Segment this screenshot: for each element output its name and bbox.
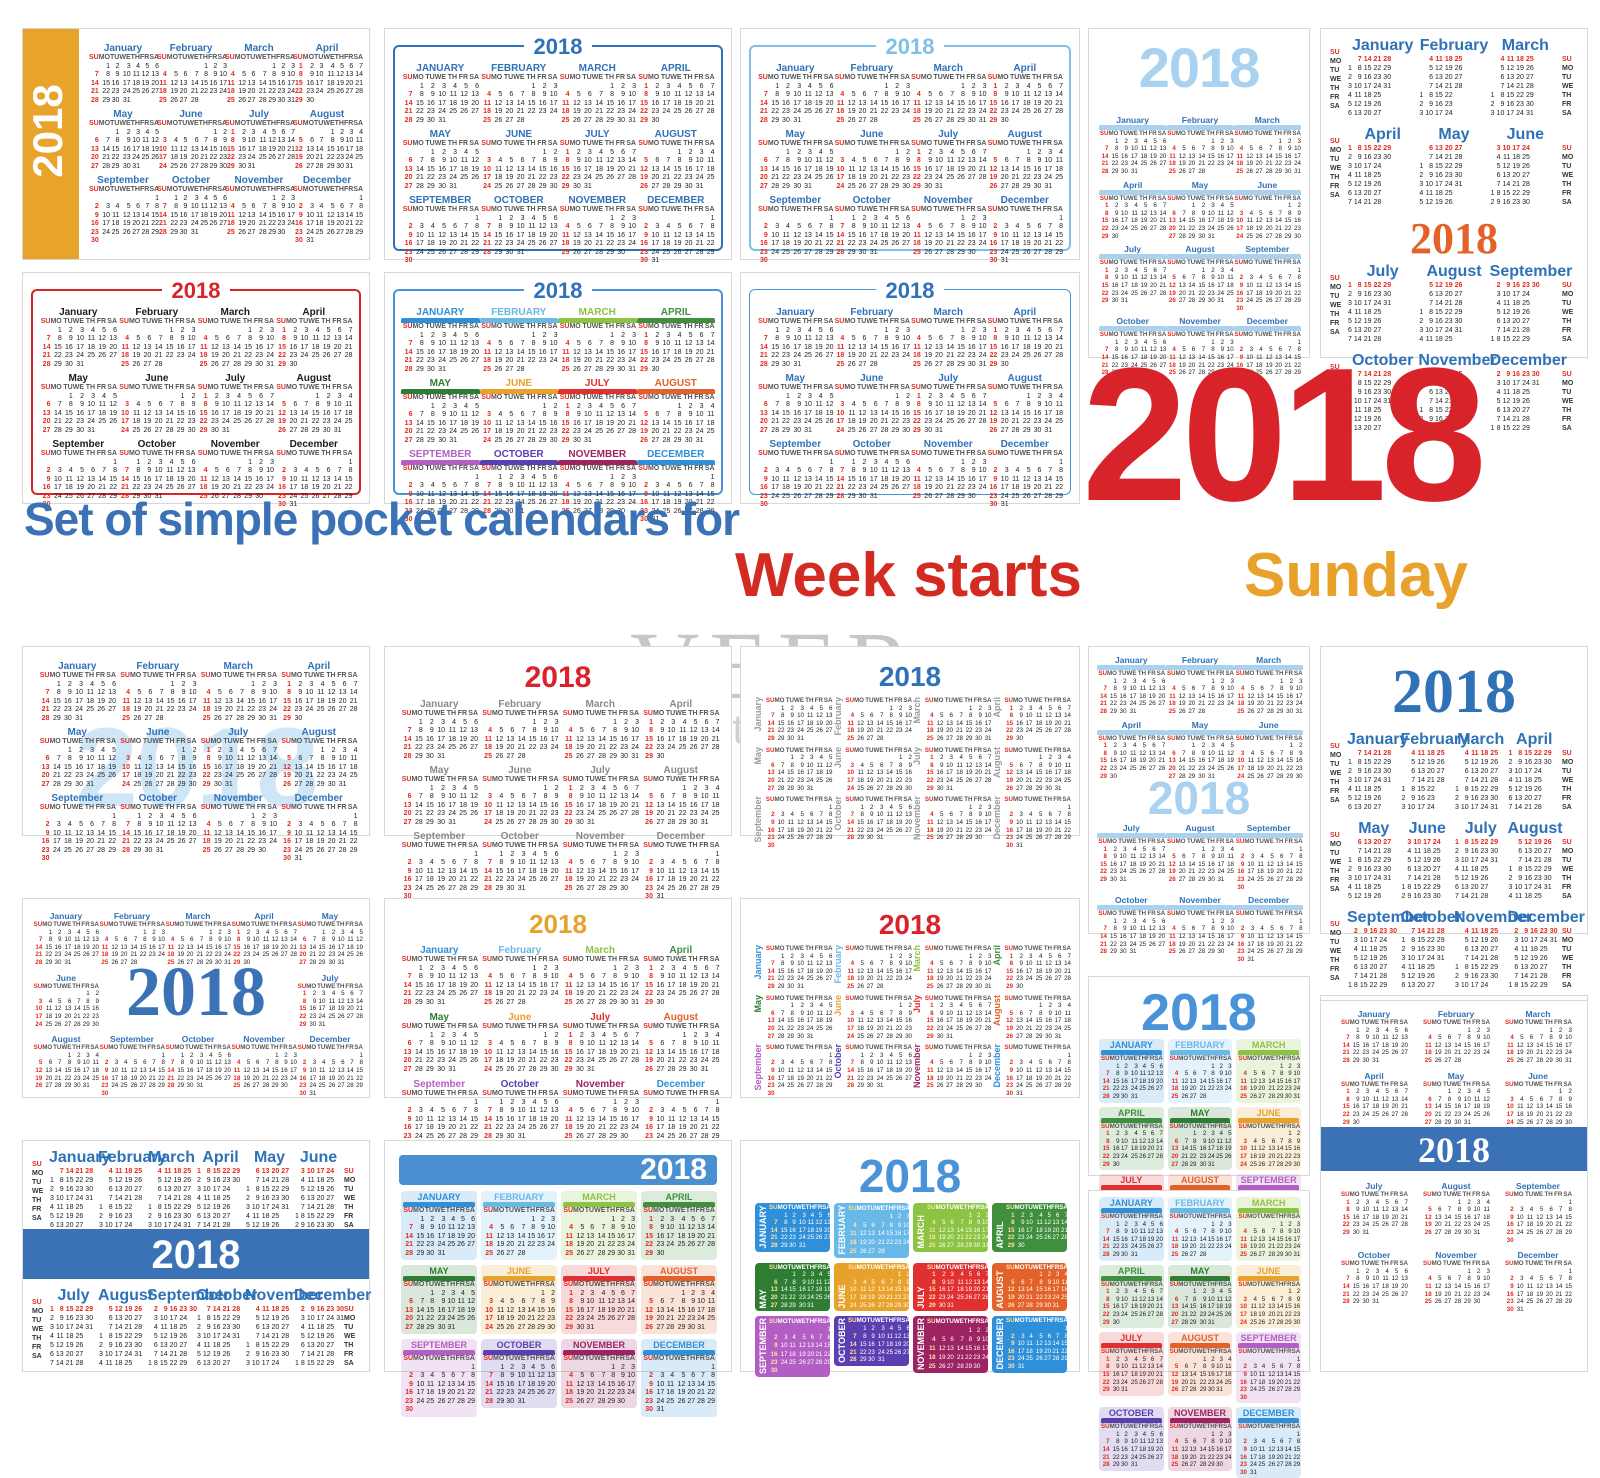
- month-name: May: [37, 727, 118, 738]
- month-cell: JuneSUMOTUWETHFRSA1234567891011121314151…: [480, 1012, 561, 1074]
- month-name: August: [98, 1287, 147, 1305]
- month-name: DECEMBER: [637, 195, 716, 206]
- month-cell: AprilSUMOTUWETHFRSA123456789101112131415…: [641, 945, 722, 1007]
- month-name: January: [399, 699, 480, 710]
- month-table: SUMOTUWETHFRSA12345678910111213141516171…: [89, 120, 159, 171]
- month-cell: December29162330310172431411182551219266…: [294, 1287, 343, 1368]
- month-chip[interactable]: AUGUSTSUMOTUWETHFRSA12345678910111213141…: [1168, 1332, 1233, 1396]
- month-cell: JuneSUMOTUWETHFRSA1234567891011121314151…: [834, 129, 911, 191]
- month-table: SUMOTUWETHFRSA12345678910111213141516171…: [927, 1264, 989, 1310]
- month-name: January: [1333, 1009, 1415, 1019]
- month-name: April: [231, 911, 297, 921]
- month-name: May: [297, 911, 363, 921]
- month-table: SUMOTUWETHFRSA12345678910111213141516171…: [481, 1023, 559, 1074]
- month-cell: AugustSUMOTUWETHFRSA12345678910111213141…: [275, 373, 354, 435]
- month-chip[interactable]: NOVEMBERSUMOTUWETHFRSA123456789101112131…: [1168, 1407, 1233, 1471]
- month-chip[interactable]: JUNESUMOTUWETHFRSA1234567891011121314151…: [1236, 1265, 1301, 1329]
- month-chip[interactable]: JULYSUMOTUWETHFRSA1234567891011121314151…: [913, 1263, 988, 1312]
- month-table: SUMOTUWETHFRSA12345678910111213141516171…: [481, 1090, 559, 1141]
- month-cell: SEPTEMBERSUMOTUWETHFRSA12345678910111213…: [401, 195, 480, 266]
- month-name: December: [294, 1287, 343, 1305]
- month-cell: JulySUMOTUWETHFRSA1234567891011121314151…: [1097, 823, 1166, 891]
- calendar-card-rounded-chips[interactable]: 2018 JANUARYSUMOTUWETHFRSA12345678910111…: [1088, 976, 1310, 1176]
- month-table: SUMOTUWETHFRSA12345678910111213141516171…: [275, 384, 353, 435]
- month-chip[interactable]: FEBRUARYSUMOTUWETHFRSA123456789101112131…: [481, 1191, 557, 1260]
- month-cell: JuneSUMOTUWETHFRSA1234567891011121314151…: [1234, 180, 1301, 241]
- month-name: FEBRUARY: [480, 307, 559, 318]
- calendar-card-blue-thin-frame[interactable]: 2018 JanuarySUMOTUWETHFRSA12345678910111…: [740, 272, 1080, 504]
- month-chip[interactable]: MAYSUMOTUWETHFRSA12345678910111213141516…: [1168, 1265, 1233, 1329]
- month-name: June: [833, 747, 843, 768]
- month-table: SUMOTUWETHFRSA12345678910111213141516171…: [987, 450, 1064, 510]
- calendar-card-vertical-month-names[interactable]: 2018 JanuarySUMOTUWETHFRSA12345678910111…: [740, 898, 1080, 1098]
- month-cell: AUGUSTSUMOTUWETHFRSA12345678910111213141…: [641, 1265, 717, 1334]
- month-chip[interactable]: DECEMBERSUMOTUWETHFRSA123456789101112131…: [641, 1339, 717, 1417]
- month-grid-bottom: JulySUMOTUWETHFRSA1234567891011121314151…: [1097, 823, 1303, 933]
- month-cell: OctoberSUMOTUWETHFRSA1234567891011121314…: [1097, 895, 1166, 963]
- calendar-card-multicolor-uppercase[interactable]: 2018 JANUARYSUMOTUWETHFRSA12345678910111…: [384, 272, 732, 504]
- month-table: SUMOTUWETHFRSA12345678910111213141516171…: [1238, 1055, 1300, 1101]
- calendar-card-pale-blue-bigyear[interactable]: 2018 JanuarySUMOTUWETHFRSA12345678910111…: [1088, 28, 1310, 358]
- month-table: SUMOTUWETHFRSA12345678910111213141516171…: [561, 1023, 639, 1074]
- calendar-card-gray-vertical-months[interactable]: 2018 JanuarySUMOTUWETHFRSA12345678910111…: [740, 646, 1080, 836]
- month-table: SUMOTUWETHFRSA12345678910111213141516171…: [1166, 838, 1234, 884]
- month-name: FEBRUARY: [1170, 1198, 1231, 1208]
- month-table: SUMOTUWETHFRSA12345678910111213141516171…: [225, 186, 295, 237]
- month-chip[interactable]: MARCHSUMOTUWETHFRSA123456789101112131415…: [1236, 1039, 1301, 1103]
- month-name: JULY: [1101, 1175, 1162, 1185]
- month-cell: February41118255121926613202771421281815…: [98, 1149, 147, 1230]
- month-table: SUMOTUWETHFRSA12345678910111213141516171…: [845, 995, 913, 1041]
- month-cell: October714212818152229291623303101724314…: [1401, 909, 1455, 990]
- month-table-vertical: 1815222929162330310172441118255121926613…: [196, 1167, 241, 1230]
- month-name: February: [98, 1149, 147, 1167]
- month-chip[interactable]: DECEMBERSUMOTUWETHFRSA123456789101112131…: [992, 1316, 1067, 1373]
- month-chip[interactable]: FEBRUARYSUMOTUWETHFRSA123456789101112131…: [834, 1203, 909, 1258]
- month-table: SUMOTUWETHFRSA12345678910111213141516171…: [834, 74, 911, 125]
- month-cell: February41118255121926613202771421281815…: [1401, 731, 1455, 812]
- month-cell: .SUMOTUWETHFRSA: [343, 1287, 361, 1368]
- month-name: August: [1166, 823, 1235, 833]
- month-cell: NovemberSUMOTUWETHFRSA123456789101112131…: [198, 793, 279, 864]
- month-table: SUMOTUWETHFRSA12345678910111213141516171…: [1097, 910, 1165, 956]
- month-table: SUMOTUWETHFRSA12345678910111213141516171…: [231, 1044, 297, 1090]
- month-cell: JuneSUMOTUWETHFRSA1234567891011121314151…: [480, 765, 561, 827]
- month-name: MAY: [1170, 1108, 1231, 1118]
- month-cell: July181522292916233031017243141118255121…: [49, 1287, 98, 1368]
- month-name: APRIL: [637, 307, 716, 318]
- month-row: SeptemberSUMOTUWETHFRSA12345678910111213…: [89, 175, 361, 246]
- month-chip[interactable]: APRILSUMOTUWETHFRSA123456789101112131415…: [641, 1191, 717, 1260]
- month-table: SUMOTUWETHFRSA12345678910111213141516171…: [924, 796, 992, 842]
- month-row: MaySUMOTUWETHFRSA12345678910111213141516…: [753, 747, 1071, 793]
- month-name: May: [399, 765, 480, 776]
- month-cell: January714212818152229291623303101724314…: [1347, 37, 1418, 118]
- month-name: April: [987, 63, 1064, 74]
- month-cell: .SUMOTUWETHFRSA: [1561, 731, 1579, 812]
- month-table: SUMOTUWETHFRSA12345678910111213141516171…: [199, 672, 277, 723]
- calendar-card-center-year-5col[interactable]: 2018 JanuarySUMOTUWETHFRSA12345678910111…: [22, 898, 370, 1098]
- month-chip[interactable]: AUGUSTSUMOTUWETHFRSA12345678910111213141…: [992, 1263, 1067, 1312]
- month-cell: JULYSUMOTUWETHFRSA1234567891011121314151…: [558, 129, 637, 191]
- month-row: MaySUMOTUWETHFRSA12345678910111213141516…: [39, 373, 353, 435]
- month-cell: JUNESUMOTUWETHFRSA1234567891011121314151…: [480, 378, 559, 445]
- month-table: SUMOTUWETHFRSA12345678910111213141516171…: [1234, 130, 1301, 176]
- month-table: SUMOTUWETHFRSA12345678910111213141516171…: [910, 140, 987, 191]
- month-chip[interactable]: MARCHSUMOTUWETHFRSA123456789101112131415…: [561, 1191, 637, 1260]
- month-cell: November41118255121926613202771421281815…: [245, 1287, 294, 1368]
- month-table-vertical: 2916233031017244111825512192661320277142…: [147, 1305, 198, 1368]
- month-name: December: [279, 793, 360, 804]
- month-table: SUMOTUWETHFRSA12345678910111213141516171…: [39, 384, 117, 435]
- month-chip[interactable]: MAYSUMOTUWETHFRSA12345678910111213141516…: [755, 1263, 830, 1312]
- calendar-card-watermarked-plain[interactable]: 2018 JanuarySUMOTUWETHFRSA12345678910111…: [22, 646, 370, 836]
- month-cell: AugustSUMOTUWETHFRSA12345678910111213141…: [641, 1012, 722, 1074]
- month-table: SUMOTUWETHFRSA12345678910111213141516171…: [643, 1207, 715, 1258]
- month-table-vertical: 1815222929162330310172441118255121926613…: [1508, 749, 1553, 812]
- month-table: SUMOTUWETHFRSA12345678910111213141516171…: [400, 1023, 478, 1074]
- month-chip[interactable]: JANUARYSUMOTUWETHFRSA1234567891011121314…: [1099, 1039, 1164, 1103]
- month-table: SUMOTUWETHFRSA12345678910111213141516171…: [637, 140, 715, 191]
- month-row: MaySUMOTUWETHFRSA12345678910111213141516…: [399, 765, 721, 827]
- month-cell: AprilSUMOTUWETHFRSA123456789101112131415…: [987, 63, 1064, 125]
- month-name: January: [753, 945, 763, 980]
- month-name: APRIL: [994, 1204, 1006, 1250]
- month-row: JanuarySUMOTUWETHFRSA1234567891011121314…: [37, 661, 359, 723]
- month-cell: MarchSUMOTUWETHFRSA123456789101112131415…: [1497, 1009, 1579, 1065]
- month-name: April: [1508, 731, 1562, 749]
- month-name: February: [834, 63, 911, 74]
- calendar-card-red-frame[interactable]: 2018 JanuarySUMOTUWETHFRSA12345678910111…: [22, 272, 370, 504]
- month-table-vertical: 7142128181522292916233031017243141118255…: [49, 1167, 94, 1230]
- month-name: June: [1490, 126, 1561, 144]
- month-name: February: [833, 697, 843, 736]
- month-chip[interactable]: JANUARYSUMOTUWETHFRSA1234567891011121314…: [1099, 1197, 1164, 1261]
- month-grid-top: JanuarySUMOTUWETHFRSA1234567891011121314…: [1097, 655, 1303, 775]
- month-chip[interactable]: JUNESUMOTUWETHFRSA1234567891011121314151…: [834, 1263, 909, 1312]
- calendar-card-blue-serif-year-right[interactable]: 2018 SUMOTUWETHFRSAJanuary71421281815222…: [1320, 646, 1588, 934]
- month-name: SEPTEMBER: [401, 449, 480, 460]
- month-name: November: [1166, 895, 1235, 905]
- month-name: JANUARY: [1101, 1040, 1162, 1050]
- month-name: November: [910, 195, 987, 206]
- calendar-card-red-year-serif[interactable]: 2018 JanuarySUMOTUWETHFRSA12345678910111…: [384, 646, 732, 836]
- month-chip[interactable]: OCTOBERSUMOTUWETHFRSA1234567891011121314…: [481, 1339, 557, 1408]
- month-name: AUGUST: [643, 1266, 715, 1276]
- month-cell: JulySUMOTUWETHFRSA1234567891011121314151…: [910, 129, 987, 191]
- month-cell: January714212818152229291623303101724314…: [49, 1149, 98, 1230]
- month-name: NOVEMBER: [1170, 1408, 1231, 1418]
- month-name: JULY: [915, 1264, 927, 1310]
- month-table: SUMOTUWETHFRSA12345678910111213141516171…: [1006, 1317, 1068, 1371]
- month-chip[interactable]: APRILSUMOTUWETHFRSA123456789101112131415…: [1099, 1107, 1164, 1171]
- month-chip-grid: JANUARYSUMOTUWETHFRSA1234567891011121314…: [399, 1191, 719, 1363]
- month-cell: OctoberSUMOTUWETHFRSA1234567891011121314…: [480, 831, 561, 902]
- month-cell: MaySUMOTUWETHFRSA12345678910111213141516…: [399, 765, 480, 827]
- month-row: JanuarySUMOTUWETHFRSA1234567891011121314…: [399, 699, 721, 761]
- month-name: June: [294, 1149, 343, 1167]
- calendar-card-blue-bar-rows[interactable]: JanuarySUMOTUWETHFRSA1234567891011121314…: [1088, 646, 1310, 934]
- month-chip[interactable]: SEPTEMBERSUMOTUWETHFRSA12345678910111213…: [1236, 1332, 1301, 1403]
- month-cell: April18152229291623303101724411182551219…: [1508, 731, 1562, 812]
- month-name: April: [1333, 1071, 1415, 1081]
- month-row: OctoberSUMOTUWETHFRSA1234567891011121314…: [1097, 895, 1303, 963]
- month-chip[interactable]: JANUARYSUMOTUWETHFRSA1234567891011121314…: [401, 1191, 477, 1260]
- month-cell: DecemberSUMOTUWETHFRSA123456789101112131…: [992, 1044, 1072, 1097]
- month-name: JULY: [1101, 1333, 1162, 1343]
- month-name: FEBRUARY: [1170, 1040, 1231, 1050]
- month-name: May: [39, 373, 118, 384]
- month-cell: SeptemberSUMOTUWETHFRSA12345678910111213…: [99, 1034, 165, 1097]
- calendar-card-bottom-right-rows[interactable]: JANUARYSUMOTUWETHFRSA1234567891011121314…: [1088, 1190, 1310, 1372]
- month-cell: JulySUMOTUWETHFRSA1234567891011121314151…: [910, 373, 987, 435]
- month-name: April: [641, 699, 722, 710]
- month-cell: FebruarySUMOTUWETHFRSA123456789101112131…: [99, 911, 165, 967]
- month-name: NOVEMBER: [558, 449, 637, 460]
- month-table-vertical: 1815222929162330310172431411182551219266…: [1454, 838, 1499, 901]
- month-cell: NovemberSUMOTUWETHFRSA123456789101112131…: [560, 1079, 641, 1150]
- month-name: July: [1347, 263, 1418, 281]
- month-cell: OctoberSUMOTUWETHFRSA1234567891011121314…: [157, 175, 225, 246]
- month-cell: JuneSUMOTUWETHFRSA1234567891011121314151…: [33, 973, 99, 1029]
- month-row: JANUARYSUMOTUWETHFRSA1234567891011121314…: [753, 1203, 1069, 1258]
- month-table-vertical: 4111825512192661320277142128181522292916…: [147, 1167, 192, 1230]
- month-name: October: [833, 1044, 843, 1079]
- month-chip[interactable]: APRILSUMOTUWETHFRSA123456789101112131415…: [992, 1203, 1067, 1252]
- month-name: November: [910, 439, 987, 450]
- month-chip[interactable]: NOVEMBERSUMOTUWETHFRSA123456789101112131…: [561, 1339, 637, 1408]
- month-cell: June310172441118255121926613202771421281…: [1490, 126, 1561, 207]
- month-grid: JanuarySUMOTUWETHFRSA1234567891011121314…: [399, 945, 721, 1091]
- month-row: SeptemberSUMOTUWETHFRSA12345678910111213…: [757, 439, 1063, 510]
- month-chip[interactable]: JANUARYSUMOTUWETHFRSA1234567891011121314…: [755, 1203, 830, 1252]
- month-cell: .SUMOTUWETHFRSA: [1561, 820, 1579, 901]
- month-cell: JUNESUMOTUWETHFRSA1234567891011121314151…: [834, 1263, 909, 1312]
- calendar-card-blue-header-bar[interactable]: 2018 JANUARYSUMOTUWETHFRSA12345678910111…: [384, 1140, 732, 1372]
- month-cell: MarchSUMOTUWETHFRSA123456789101112131415…: [912, 945, 992, 991]
- month-table-vertical: 4111825512192661320277142128181522292916…: [1490, 55, 1535, 118]
- month-cell: SUMOTUWETHFRSA: [31, 1149, 49, 1230]
- month-cell: FebruarySUMOTUWETHFRSA123456789101112131…: [157, 43, 225, 105]
- month-name: AUGUST: [994, 1264, 1006, 1310]
- month-name: April: [279, 661, 360, 672]
- big-year-label: 2018: [741, 1149, 1079, 1203]
- month-cell: OCTOBERSUMOTUWETHFRSA1234567891011121314…: [481, 1339, 557, 1417]
- month-chip[interactable]: JUNESUMOTUWETHFRSA1234567891011121314151…: [481, 1265, 557, 1334]
- month-table: SUMOTUWETHFRSA12345678910111213141516171…: [297, 1044, 363, 1097]
- month-cell: DECEMBERSUMOTUWETHFRSA123456789101112131…: [641, 1339, 717, 1417]
- month-cell: SeptemberSUMOTUWETHFRSA12345678910111213…: [1234, 823, 1303, 891]
- month-cell: NovemberSUMOTUWETHFRSA123456789101112131…: [912, 1044, 992, 1097]
- calendar-card-vertical-rows-orange-year[interactable]: SUMOTUWETHFRSAJanuary7142128181522292916…: [1320, 28, 1588, 358]
- month-name: July: [910, 129, 987, 140]
- month-name: MARCH: [563, 1192, 635, 1202]
- month-name: December: [275, 439, 354, 450]
- month-table: SUMOTUWETHFRSA12345678910111213141516171…: [1340, 1019, 1408, 1065]
- month-table: SUMOTUWETHFRSA12345678910111213141516171…: [558, 394, 636, 445]
- month-cell: SEPTEMBERSUMOTUWETHFRSA12345678910111213…: [1236, 1332, 1301, 1403]
- month-name: February: [1166, 655, 1235, 665]
- month-name: September: [39, 439, 118, 450]
- month-table: SUMOTUWETHFRSA12345678910111213141516171…: [1340, 1191, 1408, 1237]
- month-cell: SeptemberSUMOTUWETHFRSA12345678910111213…: [1234, 244, 1301, 312]
- weekday-row-labels: SUMOTUWETHFRSA: [31, 1287, 46, 1361]
- month-cell: JanuarySUMOTUWETHFRSA1234567891011121314…: [753, 697, 833, 743]
- month-cell: AUGUSTSUMOTUWETHFRSA12345678910111213141…: [1168, 1332, 1233, 1403]
- month-name: October: [165, 1034, 231, 1044]
- month-cell: MaySUMOTUWETHFRSA12345678910111213141516…: [753, 995, 833, 1041]
- month-table: SUMOTUWETHFRSA12345678910111213141516171…: [1422, 1260, 1490, 1306]
- month-row: JANUARYSUMOTUWETHFRSA1234567891011121314…: [399, 1191, 719, 1260]
- month-name: December: [992, 796, 1002, 840]
- month-cell: NovemberSUMOTUWETHFRSA123456789101112131…: [910, 195, 987, 266]
- month-row: AugustSUMOTUWETHFRSA12345678910111213141…: [33, 1034, 363, 1097]
- month-cell: MAYSUMOTUWETHFRSA12345678910111213141516…: [1168, 1265, 1233, 1329]
- month-table: SUMOTUWETHFRSA12345678910111213141516171…: [1504, 1260, 1572, 1313]
- month-chip[interactable]: JUNESUMOTUWETHFRSA1234567891011121314151…: [1236, 1107, 1301, 1171]
- calendar-card-light-blue-frame[interactable]: 2018 JanuarySUMOTUWETHFRSA12345678910111…: [740, 28, 1080, 260]
- vertical-rows-bottom: SUMOTUWETHFRSAJuly1815222929162330310172…: [31, 1287, 361, 1365]
- frame-year-label: 2018: [385, 278, 731, 304]
- month-name: SEPTEMBER: [403, 1340, 475, 1350]
- month-table: SUMOTUWETHFRSA12345678910111213141516171…: [757, 384, 834, 435]
- weekday-row-labels: SUMOTUWETHFRSA: [343, 1167, 358, 1230]
- page-title-year: 2018: [1082, 350, 1481, 520]
- month-cell: MaySUMOTUWETHFRSA12345678910111213141516…: [39, 373, 118, 435]
- month-row: JanuarySUMOTUWETHFRSA1234567891011121314…: [39, 307, 353, 369]
- month-chip[interactable]: SEPTEMBERSUMOTUWETHFRSA12345678910111213…: [755, 1316, 830, 1377]
- month-row: SUMOTUWETHFRSAJanuary7142128181522292916…: [1329, 37, 1579, 118]
- month-table: SUMOTUWETHFRSA12345678910111213141516171…: [765, 1044, 833, 1097]
- month-row: JulySUMOTUWETHFRSA1234567891011121314151…: [1333, 1181, 1579, 1244]
- month-cell: AugustSUMOTUWETHFRSA12345678910111213141…: [1166, 823, 1235, 891]
- month-name: NOVEMBER: [558, 195, 637, 206]
- month-cell: JULYSUMOTUWETHFRSA1234567891011121314151…: [913, 1263, 988, 1312]
- weekday-row-labels: SUMOTUWETHFRSA: [1561, 281, 1576, 344]
- month-chip[interactable]: DECEMBERSUMOTUWETHFRSA123456789101112131…: [1236, 1407, 1301, 1478]
- calendar-card-colorful-vertical-chips[interactable]: 2018 JANUARYSUMOTUWETHFRSA12345678910111…: [740, 1140, 1080, 1372]
- month-table: SUMOTUWETHFRSA12345678910111213141516171…: [848, 1204, 910, 1256]
- calendar-card-pastel-month-names[interactable]: 2018 JanuarySUMOTUWETHFRSA12345678910111…: [384, 898, 732, 1098]
- month-cell: APRILSUMOTUWETHFRSA123456789101112131415…: [1099, 1107, 1164, 1171]
- month-chip[interactable]: OCTOBERSUMOTUWETHFRSA1234567891011121314…: [834, 1316, 909, 1366]
- month-chip[interactable]: FEBRUARYSUMOTUWETHFRSA123456789101112131…: [1168, 1197, 1233, 1261]
- month-name: October: [1401, 909, 1455, 927]
- month-name: January: [39, 307, 118, 318]
- month-chip[interactable]: SEPTEMBERSUMOTUWETHFRSA12345678910111213…: [401, 1339, 477, 1417]
- month-name: JUNE: [480, 378, 559, 389]
- month-cell: MARCHSUMOTUWETHFRSA123456789101112131415…: [561, 1191, 637, 1260]
- month-table-vertical: 6132027714212818152229291623303101724314…: [1418, 144, 1463, 207]
- month-row: JuneSUMOTUWETHFRSA1234567891011121314151…: [33, 973, 363, 1029]
- month-cell: MaySUMOTUWETHFRSA12345678910111213141516…: [757, 129, 834, 191]
- month-cell: DecemberSUMOTUWETHFRSA123456789101112131…: [293, 175, 361, 246]
- month-table: SUMOTUWETHFRSA12345678910111213141516171…: [558, 323, 636, 374]
- month-name: September: [1490, 263, 1561, 281]
- month-table-vertical: 5121926613202771421281815222929162330310…: [1508, 838, 1553, 901]
- month-table: SUMOTUWETHFRSA12345678910111213141516171…: [1166, 130, 1233, 176]
- month-cell: AugustSUMOTUWETHFRSA12345678910111213141…: [279, 727, 360, 789]
- month-cell: AprilSUMOTUWETHFRSA123456789101112131415…: [641, 699, 722, 761]
- month-table: SUMOTUWETHFRSA12345678910111213141516171…: [637, 323, 715, 374]
- month-chip[interactable]: MAYSUMOTUWETHFRSA12345678910111213141516…: [1168, 1107, 1233, 1171]
- month-cell: SeptemberSUMOTUWETHFRSA12345678910111213…: [757, 195, 834, 266]
- month-table-vertical: 6132027714212818152229291623303101724314…: [1347, 838, 1392, 901]
- month-cell: AUGUSTSUMOTUWETHFRSA12345678910111213141…: [637, 129, 716, 191]
- month-cell: SUMOTUWETHFRSA: [1329, 909, 1347, 990]
- month-table: SUMOTUWETHFRSA12345678910111213141516171…: [293, 120, 363, 171]
- month-table: SUMOTUWETHFRSA12345678910111213141516171…: [1166, 195, 1233, 241]
- frame-year-label: 2018: [741, 278, 1079, 304]
- calendar-card-orange-sidebar[interactable]: 2018 JanuarySUMOTUWETHFRSA12345678910111…: [22, 28, 370, 260]
- month-name: January: [37, 661, 118, 672]
- month-row: OCTOBERSUMOTUWETHFRSA1234567891011121314…: [1097, 1407, 1303, 1478]
- month-name: November: [1166, 316, 1233, 326]
- month-chip[interactable]: NOVEMBERSUMOTUWETHFRSA123456789101112131…: [913, 1316, 988, 1373]
- big-year-label: 2018: [1089, 771, 1309, 825]
- month-table: SUMOTUWETHFRSA12345678910111213141516171…: [642, 710, 720, 761]
- month-name: April: [196, 1149, 245, 1167]
- month-name: July: [912, 747, 922, 765]
- month-row: JanuarySUMOTUWETHFRSA1234567891011121314…: [89, 43, 361, 105]
- month-name: DECEMBER: [643, 1340, 715, 1350]
- month-chip[interactable]: MAYSUMOTUWETHFRSA12345678910111213141516…: [401, 1265, 477, 1334]
- month-name: July: [49, 1287, 98, 1305]
- weekday-row-labels: SUMOTUWETHFRSA: [1329, 731, 1344, 805]
- month-chip[interactable]: FEBRUARYSUMOTUWETHFRSA123456789101112131…: [1168, 1039, 1233, 1103]
- month-chip[interactable]: APRILSUMOTUWETHFRSA123456789101112131415…: [1099, 1265, 1164, 1329]
- month-table: SUMOTUWETHFRSA12345678910111213141516171…: [1166, 259, 1233, 305]
- month-cell: JulySUMOTUWETHFRSA1234567891011121314151…: [912, 995, 992, 1041]
- month-name: March: [1234, 655, 1303, 665]
- calendar-card-blue-frame-uppercase[interactable]: 2018 JANUARYSUMOTUWETHFRSA12345678910111…: [384, 28, 732, 260]
- month-row: MaySUMOTUWETHFRSA12345678910111213141516…: [753, 995, 1071, 1041]
- month-name: September: [89, 175, 157, 186]
- month-table: SUMOTUWETHFRSA12345678910111213141516171…: [38, 804, 116, 864]
- month-table: SUMOTUWETHFRSA12345678910111213141516171…: [637, 74, 715, 125]
- month-table: SUMOTUWETHFRSA12345678910111213141516171…: [563, 1281, 635, 1332]
- month-chip[interactable]: AUGUSTSUMOTUWETHFRSA12345678910111213141…: [641, 1265, 717, 1334]
- month-cell: JulySUMOTUWETHFRSA1234567891011121314151…: [560, 765, 641, 827]
- month-grid-second-half: JulySUMOTUWETHFRSA1234567891011121314151…: [1333, 1181, 1579, 1365]
- month-cell: APRILSUMOTUWETHFRSA123456789101112131415…: [637, 307, 716, 374]
- month-table: SUMOTUWETHFRSA12345678910111213141516171…: [401, 74, 479, 125]
- month-chip[interactable]: MARCHSUMOTUWETHFRSA123456789101112131415…: [1236, 1197, 1301, 1261]
- frame-year-label: 2018: [23, 278, 369, 304]
- month-cell: JUNESUMOTUWETHFRSA1234567891011121314151…: [1236, 1265, 1301, 1329]
- calendar-card-blue-band-bottom-right[interactable]: JanuarySUMOTUWETHFRSA1234567891011121314…: [1320, 1000, 1588, 1372]
- month-table: SUMOTUWETHFRSA12345678910111213141516171…: [1238, 1348, 1300, 1401]
- month-row: SUMOTUWETHFRSAApril181522292916233031017…: [1329, 126, 1579, 207]
- month-cell: MARCHSUMOTUWETHFRSA123456789101112131415…: [913, 1203, 988, 1258]
- month-chip[interactable]: JULYSUMOTUWETHFRSA1234567891011121314151…: [1099, 1332, 1164, 1396]
- month-name: January: [1347, 731, 1401, 749]
- month-chip[interactable]: OCTOBERSUMOTUWETHFRSA1234567891011121314…: [1099, 1407, 1164, 1471]
- month-cell: DECEMBERSUMOTUWETHFRSA123456789101112131…: [992, 1316, 1067, 1377]
- month-name: April: [992, 697, 1002, 718]
- frame-year-label: 2018: [385, 34, 731, 60]
- month-name: October: [1099, 316, 1166, 326]
- month-table-vertical: 7142128181522292916233031017243141118255…: [196, 1305, 241, 1368]
- month-name: October: [833, 796, 843, 831]
- calendar-card-blue-band-year[interactable]: SUMOTUWETHFRSAJanuary7142128181522292916…: [22, 1140, 370, 1372]
- month-chip[interactable]: JULYSUMOTUWETHFRSA1234567891011121314151…: [561, 1265, 637, 1334]
- month-chip[interactable]: MARCHSUMOTUWETHFRSA123456789101112131415…: [913, 1203, 988, 1252]
- month-name: July: [196, 373, 275, 384]
- month-cell: NovemberSUMOTUWETHFRSA123456789101112131…: [560, 831, 641, 902]
- month-table: SUMOTUWETHFRSA12345678910111213141516171…: [561, 710, 639, 761]
- month-table: SUMOTUWETHFRSA12345678910111213141516171…: [1234, 259, 1301, 312]
